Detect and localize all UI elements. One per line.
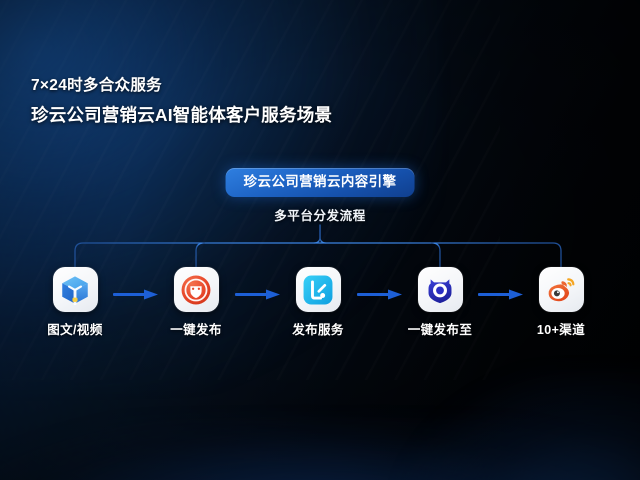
flow-node-tile[interactable] <box>174 267 219 312</box>
flow-node[interactable]: 图文/视频 <box>23 267 127 337</box>
flow-node-tile[interactable] <box>418 267 463 312</box>
flow-node-label: 发布服务 <box>292 324 344 337</box>
cyan-square-icon <box>301 273 335 307</box>
heading-kicker: 7×24时多合众服务 <box>31 78 332 94</box>
flow-node[interactable]: 10+渠道 <box>509 267 613 337</box>
flow-node[interactable]: 发布服务 <box>266 267 370 337</box>
hub-block: 珍云公司营销云内容引擎 多平台分发流程 <box>226 168 415 222</box>
heading-title: 珍云公司营销云AI智能体客户服务场景 <box>31 107 332 125</box>
flow-node-label: 一键发布 <box>170 324 222 337</box>
flow-node-tile[interactable] <box>539 267 584 312</box>
blue-cube-icon <box>58 273 92 307</box>
flow-node-tile[interactable] <box>53 267 98 312</box>
flow-node-label: 图文/视频 <box>47 324 102 337</box>
hub-caption: 多平台分发流程 <box>274 210 366 223</box>
flow-node[interactable]: 一键发布 <box>144 267 248 337</box>
hub-badge[interactable]: 珍云公司营销云内容引擎 <box>226 168 415 197</box>
red-shield-icon <box>179 273 213 307</box>
flow-node[interactable]: 一键发布至 <box>388 267 492 337</box>
background-glow-bottom-right <box>400 370 640 480</box>
flow-node-tile[interactable] <box>296 267 341 312</box>
heading-block: 7×24时多合众服务 珍云公司营销云AI智能体客户服务场景 <box>31 78 332 124</box>
weibo-eye-icon <box>544 273 578 307</box>
indigo-camera-icon <box>423 273 457 307</box>
slide-canvas: 7×24时多合众服务 珍云公司营销云AI智能体客户服务场景 珍云公司营销云内容引… <box>0 0 640 480</box>
flow-node-label: 一键发布至 <box>408 324 473 337</box>
flow-node-row: 图文/视频 一键发布 <box>0 267 640 357</box>
flow-node-label: 10+渠道 <box>537 324 585 337</box>
